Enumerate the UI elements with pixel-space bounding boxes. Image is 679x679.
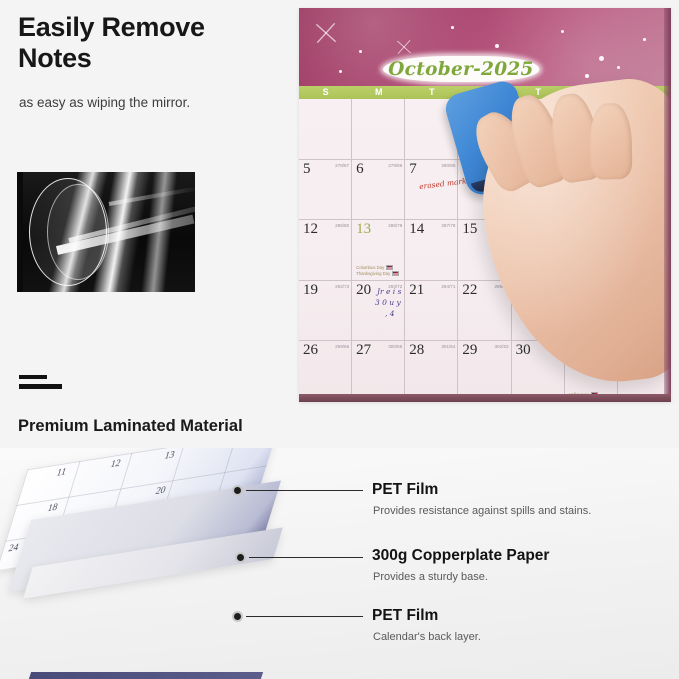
star-dot	[643, 38, 646, 41]
finger	[589, 103, 632, 180]
day-number: 6	[356, 161, 364, 178]
calendar-header-banner: October-2025	[299, 8, 671, 86]
page-title: Easily Remove Notes	[18, 12, 280, 73]
callout-title: 300g Copperplate Paper	[372, 547, 549, 565]
callout-dot	[232, 485, 243, 496]
laminate-illustration: 11 12 13 18 20 24 26 27 NOTES Model: GPC…	[0, 448, 679, 679]
callout-subtitle: Provides resistance against spills and s…	[373, 505, 591, 517]
callout-title: PET Film	[372, 607, 438, 625]
callout-subtitle: Provides a sturdy base.	[373, 571, 488, 583]
pet-film-photo	[17, 172, 195, 292]
calendar-day-cell: 29302/63	[458, 341, 511, 402]
star-dot	[617, 66, 620, 69]
calendar-day-cell: 14287/78	[405, 220, 458, 281]
star-dot	[561, 30, 564, 33]
day-of-year: 299/66	[335, 344, 349, 349]
day-of-year: 278/87	[335, 163, 349, 168]
star-dot	[495, 44, 499, 48]
day-number: 7	[409, 161, 417, 178]
calendar-day-cell: 13286/79Columbus DayThanksgiving Day	[352, 220, 405, 281]
day-number: 14	[409, 221, 424, 238]
flag-icon	[392, 271, 399, 276]
section-title-material: Premium Laminated Material	[18, 417, 243, 436]
star-dot	[599, 56, 604, 61]
divider-bar-long	[19, 384, 62, 389]
day-of-year: 279/86	[388, 163, 402, 168]
calendar-day-cell: 5278/87	[299, 160, 352, 221]
sparkle-icon	[308, 15, 345, 52]
flag-icon	[386, 265, 393, 270]
day-of-year: 286/79	[388, 223, 402, 228]
calendar-day-cell: 21294/71	[405, 281, 458, 342]
callout-leader-line	[246, 616, 363, 617]
day-number: 30	[516, 342, 531, 359]
calendar-day-cell	[352, 99, 405, 160]
day-number: 27	[356, 342, 371, 359]
day-number: 19	[303, 282, 318, 299]
day-of-year: 294/71	[441, 284, 455, 289]
callout-dot	[235, 552, 246, 563]
day-number: 26	[303, 342, 318, 359]
callout-title: PET Film	[372, 481, 438, 499]
calendar-day-cell: 28301/64	[405, 341, 458, 402]
callout-leader-line	[249, 557, 363, 558]
day-of-year: 280/85	[441, 163, 455, 168]
day-number: 28	[409, 342, 424, 359]
handwritten-note-purple: , 4	[385, 308, 395, 320]
day-of-year: 300/65	[388, 344, 402, 349]
day-number: 22	[462, 282, 477, 299]
day-number: 5	[303, 161, 311, 178]
day-of-year: 292/73	[335, 284, 349, 289]
callout-subtitle: Calendar's back layer.	[373, 631, 481, 643]
calendar-day-cell	[299, 99, 352, 160]
calendar-month-title: October-2025	[383, 59, 539, 80]
star-dot	[339, 70, 342, 73]
sparkle-icon	[391, 34, 416, 59]
day-number: 12	[303, 221, 318, 238]
calendar-day-cell: 6279/86	[352, 160, 405, 221]
calendar-right-edge	[664, 8, 671, 402]
day-number: 29	[462, 342, 477, 359]
day-number: 13	[356, 221, 371, 238]
calendar-spine	[29, 672, 263, 679]
product-infographic: Easily Remove Notes as easy as wiping th…	[0, 0, 679, 679]
divider-bar-short	[19, 375, 47, 379]
day-of-year: 285/80	[335, 223, 349, 228]
day-of-year: 302/63	[495, 344, 509, 349]
day-number: 20	[356, 282, 371, 299]
weekday-label: S	[299, 86, 352, 99]
star-dot	[359, 50, 362, 53]
page-subtitle: as easy as wiping the mirror.	[19, 95, 284, 110]
day-number: 15	[462, 221, 477, 238]
star-dot	[585, 74, 589, 78]
calendar-bottom-edge	[299, 394, 671, 402]
calendar-day-cell: 26299/66	[299, 341, 352, 402]
calendar-day-cell: 12285/80	[299, 220, 352, 281]
calendar-day-cell: 19292/73	[299, 281, 352, 342]
holiday-label: Columbus DayThanksgiving Day	[356, 265, 399, 277]
day-of-year: 287/78	[441, 223, 455, 228]
callout-dot	[232, 611, 243, 622]
day-number: 21	[409, 282, 424, 299]
weekday-label: M	[352, 86, 405, 99]
day-of-year: 301/64	[441, 344, 455, 349]
callout-leader-line	[246, 490, 363, 491]
calendar-day-cell: 27300/65	[352, 341, 405, 402]
star-dot	[451, 26, 454, 29]
calendar-photo: October-2025 S M T W T F S 1274/91Yom Ki…	[299, 8, 671, 402]
